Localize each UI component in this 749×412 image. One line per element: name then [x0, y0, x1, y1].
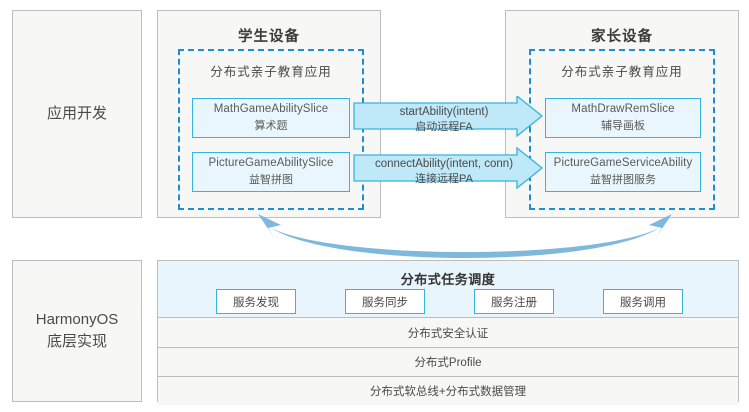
layer-label-app-development-text: 应用开发 [47, 103, 107, 125]
device-title-parent: 家长设备 [506, 25, 738, 46]
service-button-discovery[interactable]: 服务发现 [216, 289, 296, 314]
ability-slice-math-game[interactable]: MathGameAbilitySlice 算术题 [192, 98, 350, 138]
ability-slice-picture-game-desc: 益智拼图 [249, 173, 293, 188]
scheduling-row-softbus-label: 分布式软总线+分布式数据管理 [370, 383, 526, 399]
scheduling-title: 分布式任务调度 [158, 269, 738, 288]
scheduling-header: 分布式任务调度 服务发现 服务同步 服务注册 服务调用 [158, 261, 738, 318]
scheduling-row-profile-label: 分布式Profile [414, 354, 481, 370]
arrow-label-connect-ability: connectAbility(intent, conn) 连接远程PA [352, 156, 536, 187]
layer-label-harmonyos: HarmonyOS 底层实现 [12, 260, 142, 402]
ability-slice-math-game-name: MathGameAbilitySlice [214, 101, 328, 117]
layer-label-app-development: 应用开发 [12, 10, 142, 218]
ability-slice-math-draw[interactable]: MathDrawRemSlice 辅导画板 [545, 98, 701, 138]
arc-arrowhead-right [649, 214, 672, 239]
ability-slice-math-draw-desc: 辅导画板 [601, 119, 645, 134]
arrow-label-connect-ability-cn: 连接远程PA [352, 172, 536, 187]
scheduling-row-security: 分布式安全认证 [158, 318, 738, 348]
ability-slice-math-game-desc: 算术题 [255, 119, 288, 134]
service-button-invoke-label: 服务调用 [620, 294, 666, 310]
arrow-label-start-ability-cn: 启动远程FA [354, 120, 534, 135]
ability-slice-picture-game[interactable]: PictureGameAbilitySlice 益智拼图 [192, 152, 350, 192]
service-button-register-label: 服务注册 [491, 294, 537, 310]
arc-arrowhead-left [258, 214, 281, 239]
ability-slice-picture-game-service-name: PictureGameServiceAbility [554, 155, 693, 171]
layer-label-harmonyos-line2: 底层实现 [36, 331, 119, 353]
service-button-register[interactable]: 服务注册 [474, 289, 554, 314]
service-button-sync[interactable]: 服务同步 [345, 289, 425, 314]
service-button-sync-label: 服务同步 [362, 294, 408, 310]
scheduling-row-security-label: 分布式安全认证 [408, 325, 489, 341]
service-button-discovery-label: 服务发现 [233, 294, 279, 310]
scheduling-row-softbus: 分布式软总线+分布式数据管理 [158, 377, 738, 405]
arrow-label-start-ability: startAbility(intent) 启动远程FA [354, 104, 534, 135]
diagram-canvas: 应用开发 HarmonyOS 底层实现 学生设备 分布式亲子教育应用 MathG… [0, 0, 749, 412]
app-container-title-student: 分布式亲子教育应用 [180, 61, 362, 80]
bidirectional-task-dispatch-arrow [255, 212, 675, 266]
scheduling-row-profile: 分布式Profile [158, 348, 738, 377]
layer-label-harmonyos-line1: HarmonyOS [36, 309, 119, 331]
arrow-label-connect-ability-en: connectAbility(intent, conn) [352, 156, 536, 172]
ability-slice-picture-game-service[interactable]: PictureGameServiceAbility 益智拼图服务 [545, 152, 701, 192]
arrow-label-start-ability-en: startAbility(intent) [354, 104, 534, 120]
ability-slice-picture-game-name: PictureGameAbilitySlice [208, 155, 333, 171]
ability-slice-math-draw-name: MathDrawRemSlice [571, 101, 674, 117]
ability-slice-picture-game-service-desc: 益智拼图服务 [590, 173, 656, 188]
device-title-student: 学生设备 [158, 25, 380, 46]
distributed-scheduling-panel: 分布式任务调度 服务发现 服务同步 服务注册 服务调用 分布式安全认证 分布式P… [157, 260, 739, 402]
service-button-invoke[interactable]: 服务调用 [603, 289, 683, 314]
arc-body [271, 228, 659, 258]
app-container-title-parent: 分布式亲子教育应用 [531, 61, 713, 80]
